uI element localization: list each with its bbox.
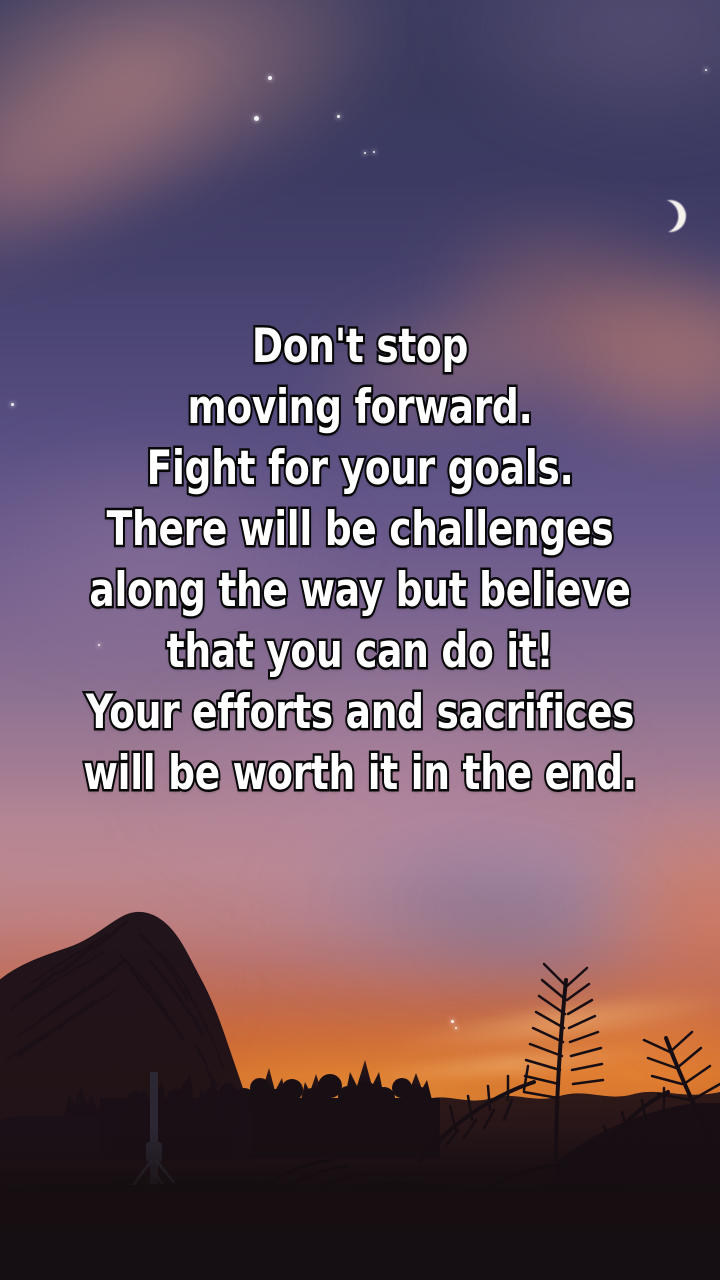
star-4 (364, 152, 366, 154)
star-5 (373, 151, 375, 153)
star-10 (451, 1020, 454, 1023)
quote-line-5: along the way but believe (72, 560, 648, 621)
ground-shadow (0, 1130, 720, 1280)
quote-line-1: Don't stop (72, 316, 648, 377)
quote-line-4: There will be challenges (72, 499, 648, 560)
star-2 (254, 116, 259, 121)
quote-poster: Don't stop moving forward. Fight for you… (0, 0, 720, 1280)
star-6 (705, 69, 707, 71)
quote-line-8: will be worth it in the end. (72, 743, 648, 804)
quote-line-2: moving forward. (72, 377, 648, 438)
star-3 (337, 115, 340, 118)
quote-line-6: that you can do it! (72, 621, 648, 682)
quote-line-7: Your efforts and sacrifices (72, 682, 648, 743)
star-1 (268, 76, 272, 80)
quote-text-block: Don't stop moving forward. Fight for you… (0, 316, 720, 804)
star-11 (455, 1027, 457, 1029)
quote-line-3: Fight for your goals. (72, 438, 648, 499)
